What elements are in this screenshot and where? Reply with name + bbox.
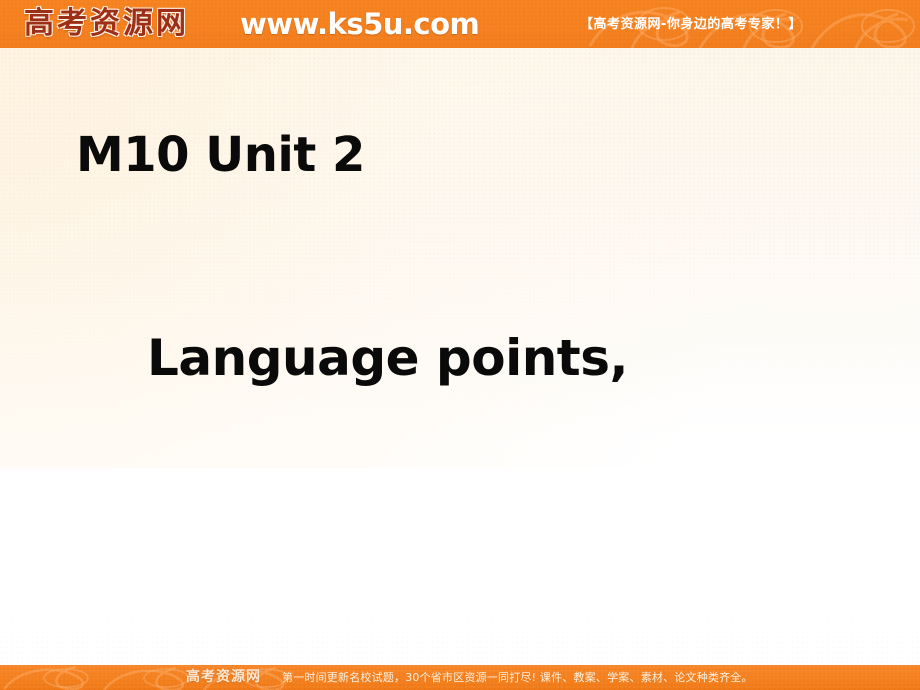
slide-title: M10 Unit 2 xyxy=(76,126,365,184)
paper-background-wash xyxy=(0,48,920,468)
presentation-slide: 高考资源网 www.ks5u.com 【高考资源网-你身边的高考专家！】 M10… xyxy=(0,0,920,690)
site-header-banner: 高考资源网 www.ks5u.com 【高考资源网-你身边的高考专家！】 xyxy=(0,0,920,48)
paper-halftone-texture-bottom xyxy=(0,600,920,664)
paper-halftone-texture xyxy=(0,48,920,478)
footer-decorative-swirl-pattern xyxy=(0,665,320,690)
brand-url-link[interactable]: www.ks5u.com xyxy=(240,5,479,43)
brand-logo: 高考资源网 xyxy=(24,4,189,44)
footer-description-text: 第一时间更新名校试题，30个省市区资源一同打尽! 课件、教案、学案、素材、论文种… xyxy=(282,671,753,685)
brand-tagline: 【高考资源网-你身边的高考专家！】 xyxy=(580,17,802,33)
site-footer-banner: 高考资源网 第一时间更新名校试题，30个省市区资源一同打尽! 课件、教案、学案、… xyxy=(0,665,920,690)
slide-subtitle: Language points, xyxy=(147,327,628,389)
footer-brand-logo: 高考资源网 xyxy=(186,669,261,686)
